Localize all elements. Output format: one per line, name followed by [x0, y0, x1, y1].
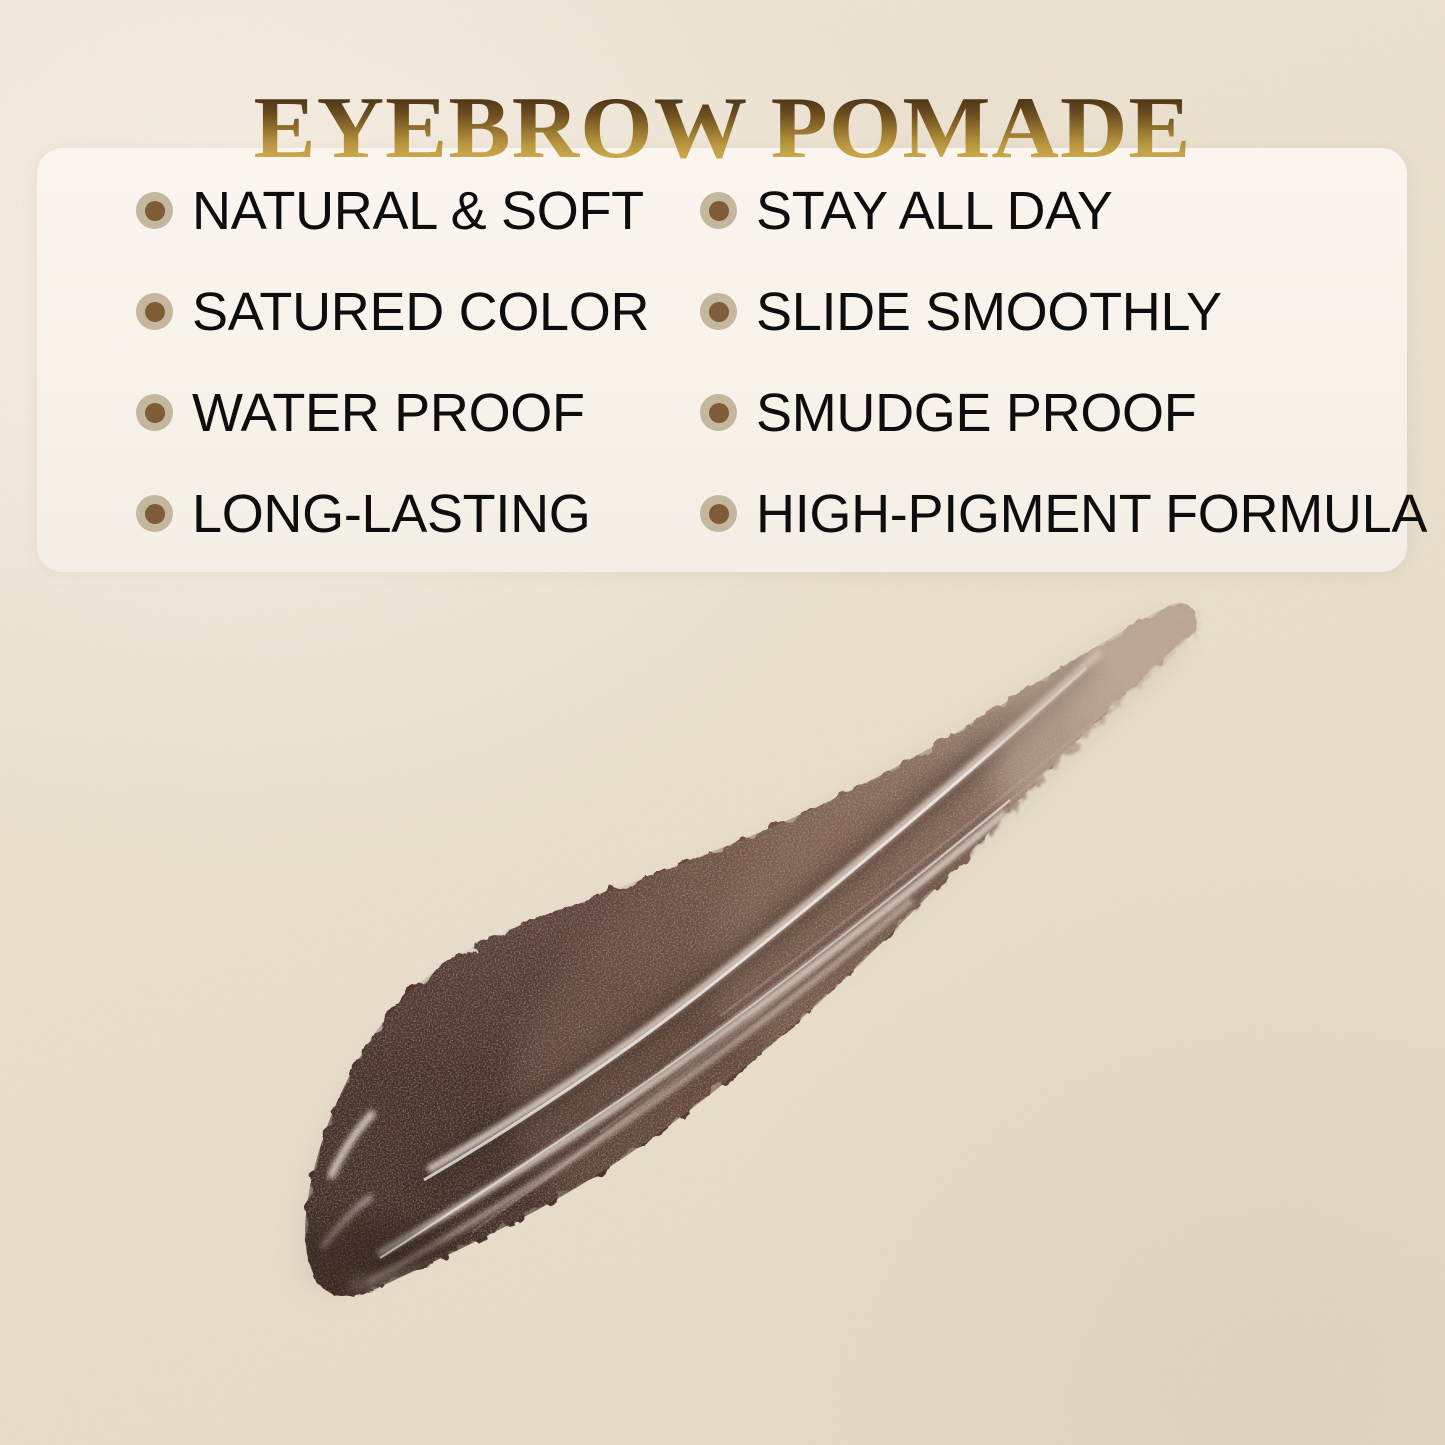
feature-item-satured-color: SATURED COLOR: [37, 261, 700, 362]
feature-label: SMUDGE PROOF: [756, 386, 1196, 440]
feature-item-high-pigment-formula: HIGH-PIGMENT FORMULA: [700, 463, 1407, 564]
bullet-dot-icon: [136, 293, 173, 330]
feature-label: SLIDE SMOOTHLY: [756, 285, 1222, 339]
feature-item-smudge-proof: SMUDGE PROOF: [700, 362, 1407, 463]
bullet-dot-icon: [700, 293, 737, 330]
feature-label: SATURED COLOR: [192, 285, 649, 339]
swatch-inner-detail: [220, 530, 1290, 1360]
feature-label: HIGH-PIGMENT FORMULA: [756, 487, 1427, 541]
feature-item-long-lasting: LONG-LASTING: [37, 463, 700, 564]
feature-label: LONG-LASTING: [192, 487, 590, 541]
page-title: EYEBROW POMADE: [253, 85, 1191, 173]
bullet-dot-icon: [700, 394, 737, 431]
feature-item-water-proof: WATER PROOF: [37, 362, 700, 463]
page-title-container: EYEBROW POMADE: [0, 26, 1445, 232]
bullet-dot-icon: [136, 495, 173, 532]
product-feature-graphic: EYEBROW POMADE NATURAL & SOFT STAY ALL D…: [0, 0, 1445, 1445]
bullet-dot-icon: [136, 394, 173, 431]
bullet-dot-icon: [700, 495, 737, 532]
feature-item-slide-smoothly: SLIDE SMOOTHLY: [700, 261, 1407, 362]
feature-label: WATER PROOF: [192, 386, 585, 440]
